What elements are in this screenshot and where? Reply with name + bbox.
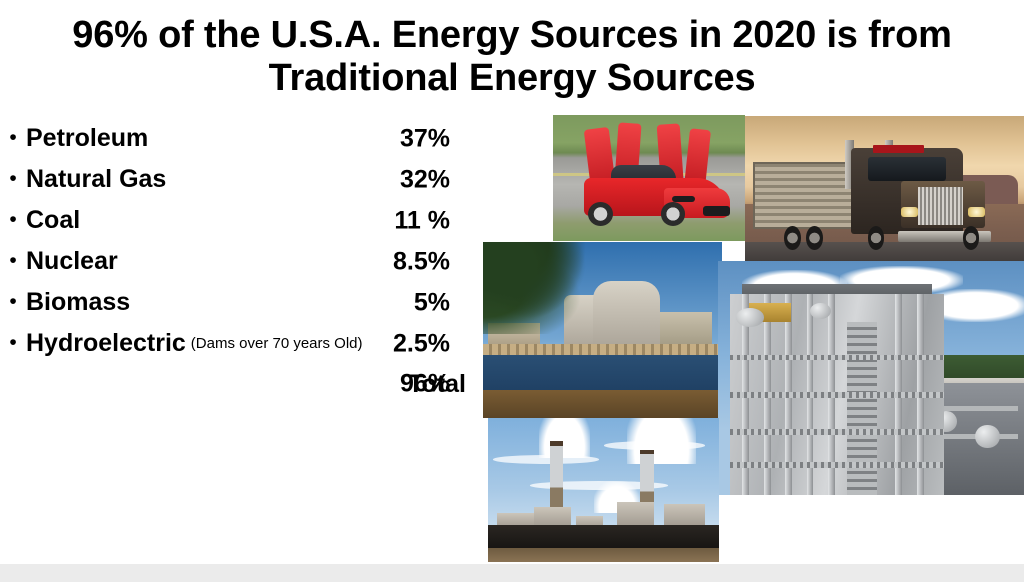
- containment-dome: [593, 281, 660, 351]
- water: [488, 548, 719, 562]
- bullet-icon: •: [0, 168, 26, 192]
- headlight: [968, 207, 985, 217]
- truck-brand-badge: [873, 145, 923, 152]
- energy-source-label: Hydroelectric: [26, 329, 186, 358]
- bullet-icon: •: [0, 127, 26, 151]
- list-item: • Coal 11 %: [0, 200, 466, 241]
- total-row: Total 96%: [0, 364, 466, 404]
- windshield: [868, 157, 946, 181]
- storage-tank: [975, 425, 999, 448]
- catwalk-railing: [730, 462, 944, 468]
- list-item: • Petroleum 37%: [0, 118, 466, 159]
- list-item: • Hydroelectric (Dams over 70 years Old)…: [0, 323, 466, 364]
- energy-source-value: 11 %: [394, 206, 450, 235]
- title-line-1: 96% of the U.S.A. Energy Sources in 2020…: [72, 14, 951, 56]
- catwalk-railing: [730, 392, 944, 398]
- page-title: 96% of the U.S.A. Energy Sources in 2020…: [0, 14, 1024, 99]
- nuclear-power-plant-photo: [483, 242, 722, 418]
- energy-source-list: • Petroleum 37% • Natural Gas 32% • Coal…: [0, 118, 466, 404]
- energy-source-label: Coal: [26, 206, 80, 235]
- oil-refinery-photo: [718, 261, 1024, 495]
- slide-canvas: 96% of the U.S.A. Energy Sources in 2020…: [0, 0, 1024, 582]
- total-value: 96%: [400, 370, 450, 399]
- car-wheel: [588, 202, 613, 226]
- energy-source-label: Biomass: [26, 288, 130, 317]
- list-item: • Natural Gas 32%: [0, 159, 466, 200]
- energy-source-value: 32%: [400, 165, 450, 194]
- pine-branches: [483, 242, 598, 334]
- truck-wheel: [806, 226, 823, 250]
- stack-cap: [550, 441, 563, 445]
- coal-power-plant-photo: [488, 418, 719, 562]
- truck-wheel: [784, 226, 801, 250]
- bullet-icon: •: [0, 250, 26, 274]
- car-vent: [703, 206, 730, 216]
- list-item: • Nuclear 8.5%: [0, 241, 466, 282]
- truck-wheel: [963, 226, 980, 250]
- truck-grille: [918, 187, 963, 225]
- bullet-icon: •: [0, 209, 26, 233]
- energy-source-label: Petroleum: [26, 124, 148, 153]
- smoke-plume: [539, 418, 590, 458]
- semi-truck-photo: [745, 116, 1024, 263]
- stack-cap: [640, 450, 654, 454]
- title-line-2: Traditional Energy Sources: [30, 57, 994, 100]
- reeds: [483, 390, 722, 418]
- smoke-plume: [627, 418, 696, 464]
- catwalk-railing: [730, 429, 944, 435]
- energy-source-note: (Dams over 70 years Old): [191, 335, 363, 352]
- car-wheel: [661, 202, 686, 226]
- access-stairway: [847, 322, 878, 495]
- energy-source-label: Natural Gas: [26, 165, 166, 194]
- bottom-band: [0, 564, 1024, 582]
- energy-source-label: Nuclear: [26, 247, 118, 276]
- sports-car-photo: [553, 115, 745, 241]
- bullet-icon: •: [0, 332, 26, 356]
- energy-source-value: 8.5%: [393, 247, 450, 276]
- headlight: [901, 207, 918, 217]
- energy-source-value: 37%: [400, 124, 450, 153]
- pressure-vessel: [736, 308, 764, 327]
- energy-source-value: 5%: [414, 288, 450, 317]
- catwalk-railing: [730, 355, 944, 361]
- list-item: • Biomass 5%: [0, 282, 466, 323]
- energy-source-value: 2.5%: [393, 329, 450, 358]
- coal-pile: [488, 525, 719, 551]
- car-vent: [672, 196, 695, 202]
- bullet-icon: •: [0, 291, 26, 315]
